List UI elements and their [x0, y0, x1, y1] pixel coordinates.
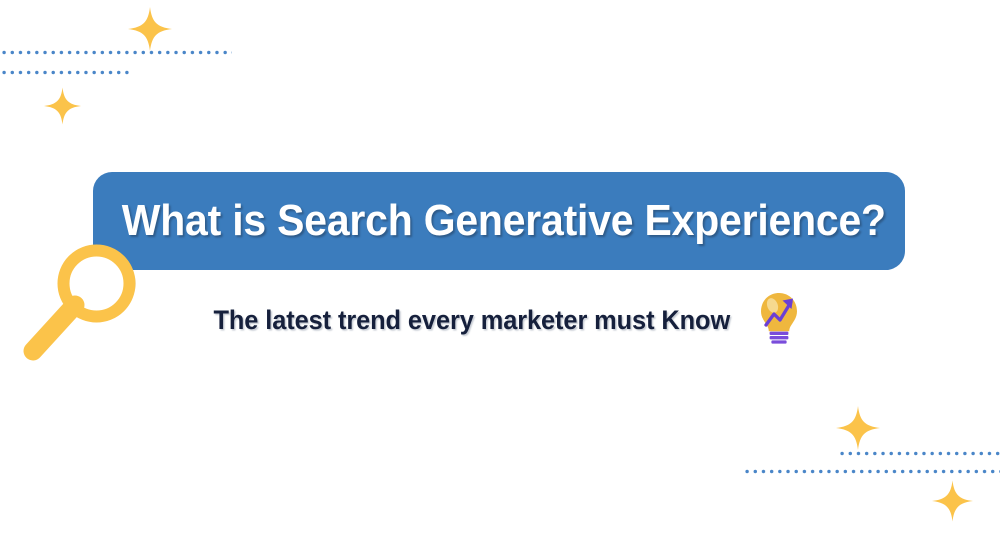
subtitle-text: The latest trend every marketer must Kno… [214, 305, 731, 336]
dotted-line-top-1 [0, 50, 232, 55]
page-title-text: What is Search Generative Experience? [122, 196, 886, 246]
dotted-line-bottom-2 [743, 469, 1000, 474]
sparkle-star-icon [836, 404, 880, 452]
slide-canvas: What is Search Generative Experience? Th… [0, 0, 1000, 538]
sparkle-star-icon [128, 5, 172, 53]
sparkle-star-icon [932, 479, 973, 523]
page-title: What is Search Generative Experience? [93, 196, 905, 246]
idea-bulb-growth-icon [757, 292, 801, 344]
sparkle-star-icon [44, 86, 81, 126]
dotted-line-top-2 [0, 70, 133, 75]
subtitle: The latest trend every marketer must Kno… [197, 305, 747, 336]
title-banner: What is Search Generative Experience? [93, 172, 905, 270]
subtitle-row: The latest trend every marketer must Kno… [93, 294, 905, 346]
